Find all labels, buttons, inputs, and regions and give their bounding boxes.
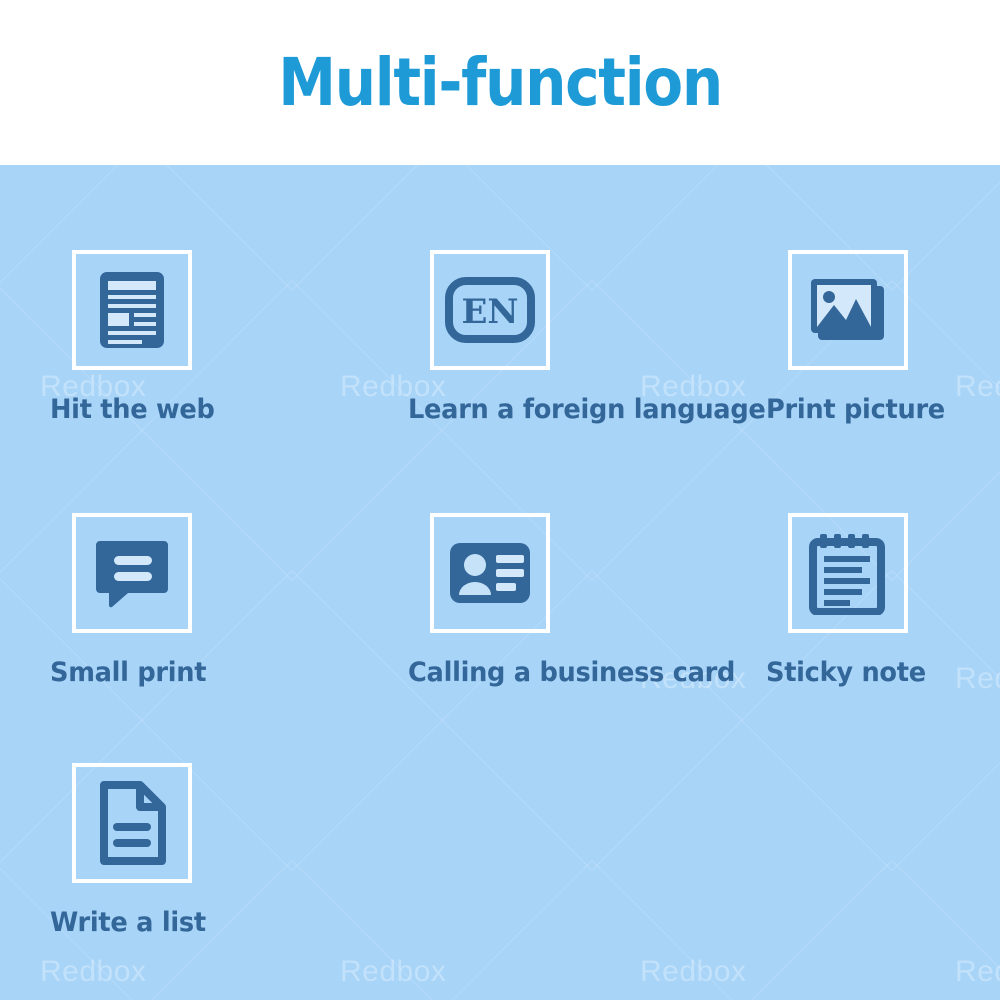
- icon-box[interactable]: [72, 513, 192, 633]
- speech-bubble-icon: [92, 535, 172, 611]
- feature-item-print-picture[interactable]: Print picture: [766, 250, 1000, 425]
- feature-item-learn-a-foreign-language[interactable]: EN Learn a foreign language: [408, 250, 748, 425]
- notepad-icon: [808, 531, 888, 615]
- en-language-icon: EN: [445, 277, 535, 343]
- feature-item-hit-the-web[interactable]: Hit the web: [50, 250, 390, 425]
- page-title: Multi-function: [278, 50, 722, 116]
- feature-item-write-a-list[interactable]: Write a list: [50, 763, 390, 938]
- feature-grid: Hit the web EN Learn a foreign language: [0, 165, 1000, 1000]
- icon-box[interactable]: [788, 250, 908, 370]
- feature-label: Small print: [50, 657, 373, 688]
- icon-box[interactable]: [788, 513, 908, 633]
- file-document-icon: [96, 781, 168, 865]
- feature-label: Learn a foreign language: [408, 394, 731, 425]
- photo-stack-icon: [804, 272, 892, 348]
- document-article-icon: [94, 270, 170, 350]
- svg-text:EN: EN: [462, 292, 519, 332]
- feature-label: Hit the web: [50, 394, 373, 425]
- feature-label: Print picture: [766, 394, 1000, 425]
- icon-box[interactable]: [430, 513, 550, 633]
- multi-function-feature-poster: Multi-function Redbox Redbox Redbox Redb…: [0, 0, 1000, 1000]
- feature-item-small-print[interactable]: Small print: [50, 513, 390, 688]
- header-band: Multi-function: [0, 0, 1000, 165]
- icon-box[interactable]: [72, 763, 192, 883]
- icon-box[interactable]: EN: [430, 250, 550, 370]
- feature-item-calling-a-business-card[interactable]: Calling a business card: [408, 513, 748, 688]
- feature-label: Write a list: [50, 907, 373, 938]
- feature-label: Sticky note: [766, 657, 1000, 688]
- icon-box[interactable]: [72, 250, 192, 370]
- feature-item-sticky-note[interactable]: Sticky note: [766, 513, 1000, 688]
- business-card-icon: [446, 539, 534, 607]
- feature-label: Calling a business card: [408, 657, 731, 688]
